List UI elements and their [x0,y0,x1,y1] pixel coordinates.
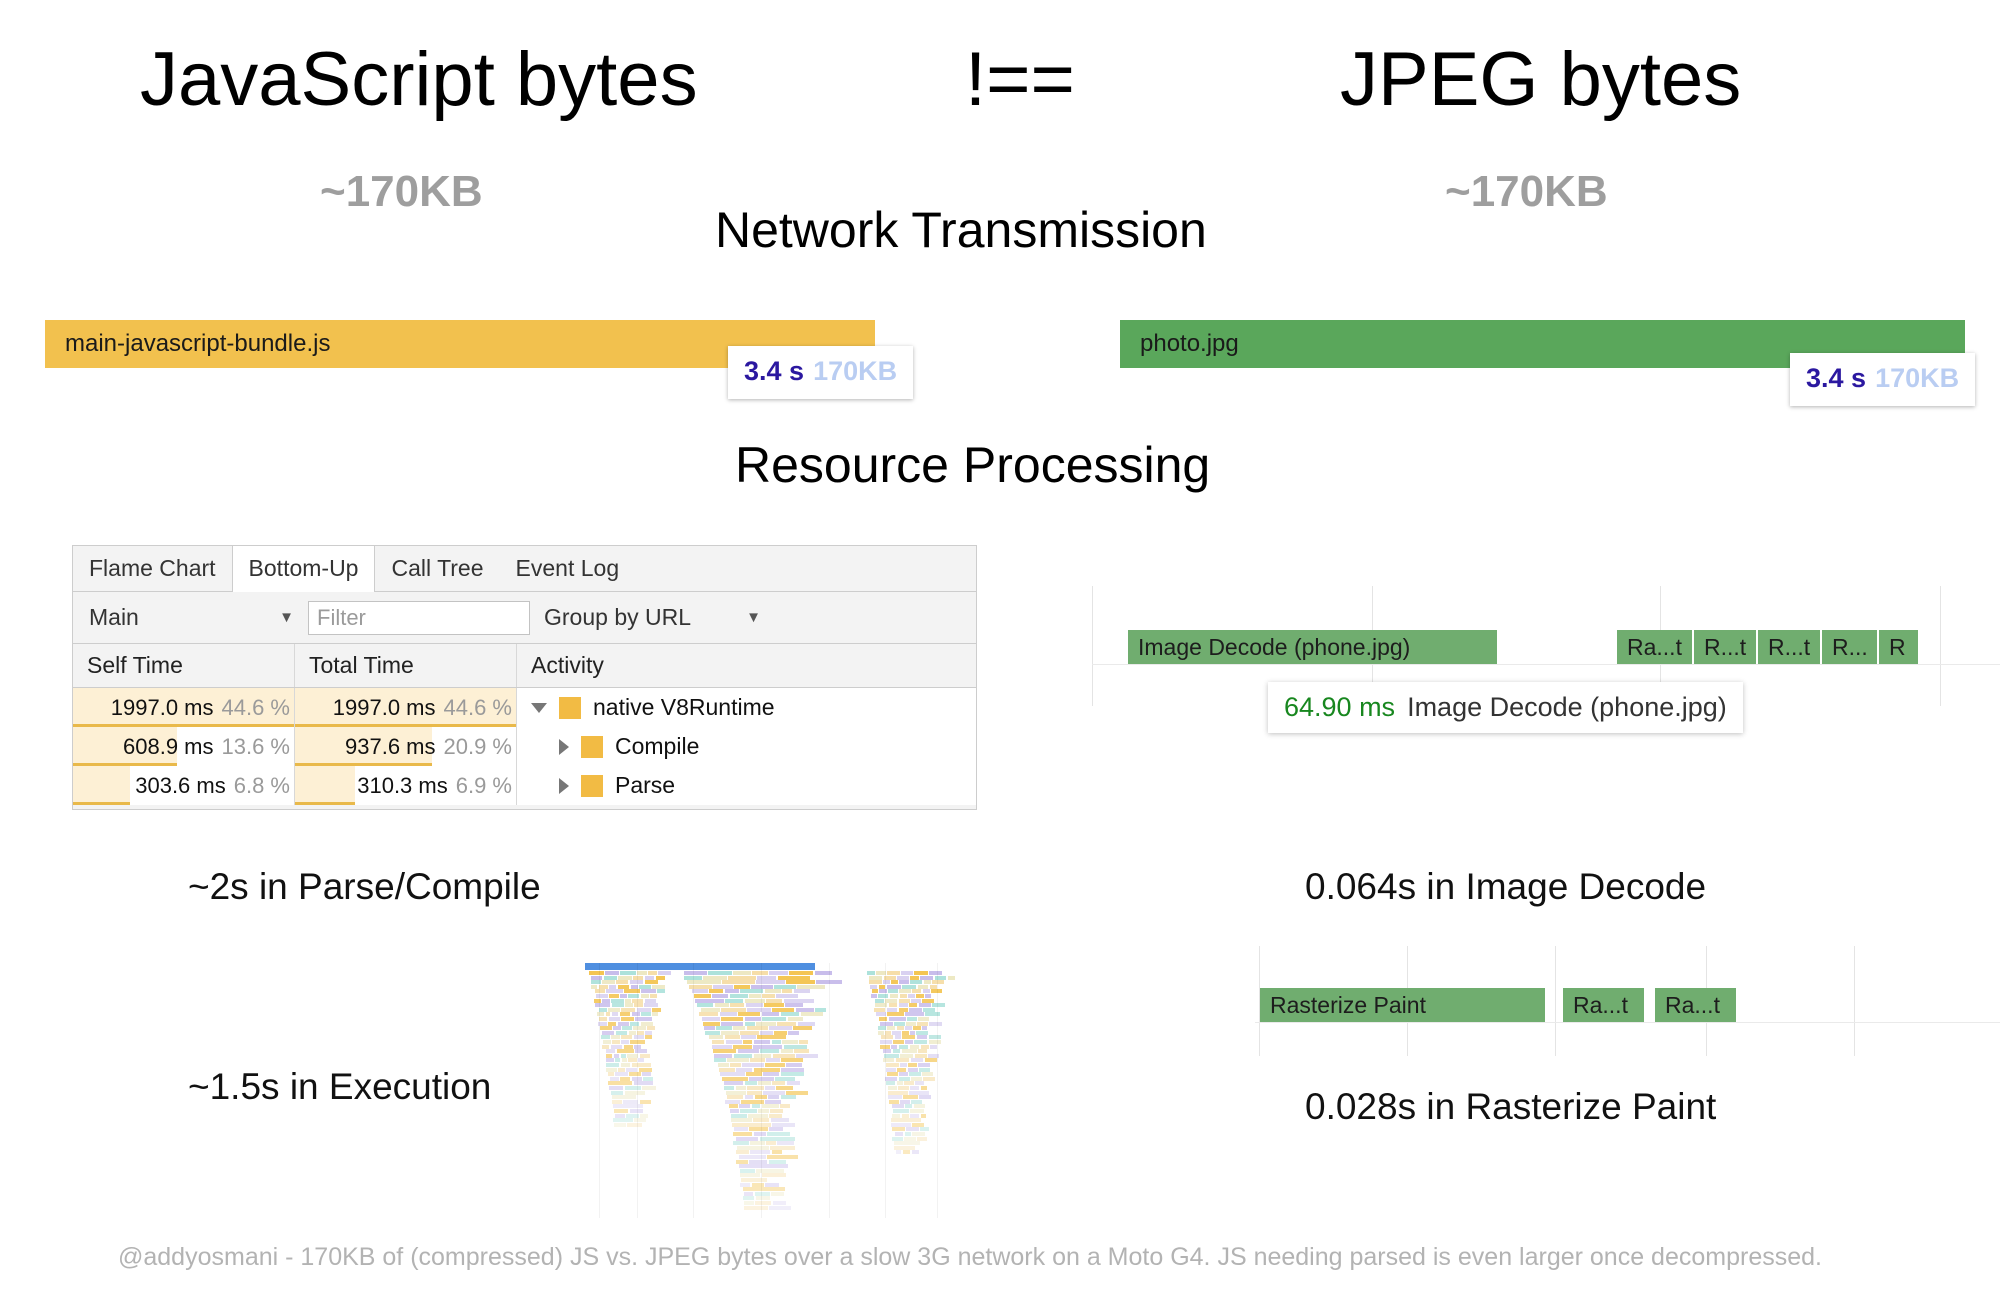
flame-chart-frame [798,1022,815,1026]
tab-event-log[interactable]: Event Log [500,546,636,591]
flame-chart-frame [766,1058,780,1062]
flame-chart-frame [612,1095,636,1099]
devtools-toolbar: Main ▼ Filter Group by URL ▼ [73,592,976,644]
flame-chart-frame [910,976,919,980]
total-time-value-cell: 310.3 ms6.9 % [295,766,517,805]
flame-chart-frame [911,1058,924,1062]
flame-chart-frame [784,1045,808,1049]
flame-chart-frame [883,980,890,984]
flame-chart-frame [774,1031,787,1035]
flame-chart-frame [625,1003,633,1007]
flame-chart-frame [739,1164,788,1168]
flame-chart-frame [733,1141,749,1145]
flame-chart-frame [622,1058,628,1062]
flame-chart-frame [620,1012,631,1016]
flame-chart-frame [737,1146,769,1150]
flame-chart-frame [899,1072,908,1076]
flame-chart-frame [910,1109,924,1113]
flame-chart-frame [650,994,657,998]
flame-chart-frame [767,1155,798,1159]
flame-chart-frame [606,1012,611,1016]
flame-chart-frame [712,994,728,998]
timeline-event-bar[interactable]: R...t [1758,630,1821,664]
timeline-event-bar[interactable]: R [1879,630,1919,664]
flame-chart-frame [632,1063,651,1067]
flame-chart-frame [709,1035,724,1039]
flame-chart-frame [887,1026,896,1030]
timeline-event-bar[interactable]: Ra...t [1655,988,1737,1022]
flame-chart-frame [906,1127,919,1131]
flame-chart-frame [602,999,609,1003]
flame-chart-frame [772,1081,785,1085]
flame-chart-frame [716,1026,732,1030]
flame-chart-frame [778,976,810,980]
flame-chart-frame [794,1049,809,1053]
flame-chart-frame [755,1192,770,1196]
flame-chart-frame [741,1178,766,1182]
flame-chart-frame [736,1137,758,1141]
flame-chart-frame [740,1183,750,1187]
flame-chart-gridline [829,963,830,1218]
flame-chart-frame [884,1054,899,1058]
flame-chart-frame [902,985,917,989]
flame-chart-frame [628,1058,637,1062]
flame-chart-frame [874,1008,886,1012]
flame-chart-frame [894,1141,921,1145]
flame-chart-frame [621,1063,631,1067]
flame-chart-frame [919,1095,931,1099]
tab-bottom-up[interactable]: Bottom-Up [232,546,376,592]
flame-chart-frame [904,1081,914,1085]
flame-chart-frame [770,1146,795,1150]
flame-chart-frame [740,1169,755,1173]
flame-chart-frame [648,971,656,975]
note-image-decode: 0.064s in Image Decode [1305,868,1706,905]
flame-chart-frame [891,1045,898,1049]
table-row[interactable]: 303.6 ms6.8 %310.3 ms6.9 %Parse [73,766,976,805]
flame-chart-frame [637,971,647,975]
flame-chart-frame [921,1114,926,1118]
flame-chart-frame [776,994,798,998]
flame-chart-frame [611,999,624,1003]
flame-chart-frame [772,1040,781,1044]
flame-chart-frame [914,1104,926,1108]
size-label-jpeg: ~170KB [1445,170,1608,214]
flame-chart-frame [889,1017,906,1021]
flame-chart-frame [612,1012,619,1016]
flame-chart-frame [916,1031,927,1035]
column-header-activity[interactable]: Activity [517,644,976,687]
flame-chart-frame [867,971,875,975]
flame-chart-frame [886,1063,899,1067]
timeline-event-label: Ra...t [1563,992,1628,1019]
flame-chart-frame [796,1054,817,1058]
flame-chart-frame [589,971,604,975]
flame-chart-frame [899,989,911,993]
flame-chart-header-bar [585,963,815,970]
flame-chart-frame [903,1095,918,1099]
flame-chart-frame [625,1086,641,1090]
table-row[interactable]: 608.9 ms13.6 %937.6 ms20.9 %Compile [73,727,976,766]
table-body: 1997.0 ms44.6 %1997.0 ms44.6 %native V8R… [73,688,976,805]
flame-chart-frame [749,994,761,998]
flame-chart-frame [721,1031,739,1035]
flame-chart-frame [895,1132,904,1136]
flame-chart-frame [658,971,671,975]
flame-chart-frame [910,980,922,984]
flame-chart-frame [652,1008,661,1012]
self-time-percent: 44.6 % [222,695,291,721]
flame-chart-frame [748,1114,767,1118]
flame-chart-frame [767,1132,790,1136]
flame-chart-frame [910,1114,919,1118]
flame-chart-frame [752,1104,761,1108]
flame-chart-frame [769,1206,791,1210]
column-header-total-time[interactable]: Total Time [295,644,517,687]
flame-chart-frame [641,989,655,993]
flame-chart-frame [657,989,665,993]
flame-chart-frame [788,1031,799,1035]
flame-chart-frame [713,985,733,989]
flame-chart-frame [606,1049,615,1053]
flame-chart-frame [892,1031,900,1035]
flame-chart-frame [777,1022,796,1026]
flame-chart-frame [905,1040,913,1044]
value-heatmap-fill [295,766,355,805]
flame-chart-frame [745,1081,757,1085]
flame-chart-frame [902,1031,909,1035]
flame-chart-frame [733,971,751,975]
flame-chart-frame [888,1095,902,1099]
flame-chart-frame [787,1081,800,1085]
scope-dropdown[interactable]: Main ▼ [73,604,308,631]
self-time-value: 1997.0 ms [111,695,214,721]
flame-chart-frame [900,994,908,998]
flame-chart-frame [781,1012,800,1016]
timeline-baseline [1255,1022,2000,1023]
activity-label: Parse [615,772,675,799]
flame-chart-frame [625,1091,645,1095]
flame-chart-frame [627,1123,642,1127]
flame-chart-frame [625,999,631,1003]
flame-chart-frame [921,1045,929,1049]
flame-chart-frame [769,971,788,975]
flame-chart-frame [881,1035,893,1039]
flame-chart-frame [888,1091,908,1095]
flame-chart-frame [714,1058,726,1062]
flame-chart-frame [724,1081,744,1085]
flame-chart-frame [878,994,888,998]
timeline-event-bar[interactable]: Ra...t [1617,630,1693,664]
chevron-down-icon: ▼ [746,609,761,626]
flame-chart-frame [912,1123,924,1127]
flame-chart-frame [738,1012,760,1016]
flame-chart-frame [645,976,655,980]
flame-chart-frame [905,1026,912,1030]
filter-placeholder: Filter [317,605,366,631]
flame-chart-frame [917,1137,927,1141]
flame-chart-frame [754,1054,772,1058]
flame-chart-frame [771,1192,785,1196]
flame-chart-frame [617,1049,634,1053]
flame-chart-frame [606,1068,617,1072]
flame-chart-frame [880,1022,893,1026]
flame-chart-frame [624,1045,633,1049]
flame-chart-frame [639,985,651,989]
column-header-self-time[interactable]: Self Time [73,644,295,687]
chevron-down-icon[interactable] [531,703,547,713]
flame-chart-frame [793,1026,812,1030]
network-size-jpeg: 170KB [1875,363,1959,394]
flame-chart-frame [630,1022,639,1026]
flame-chart-frame [703,976,727,980]
timeline-event-bar[interactable]: Rasterize Paint [1260,988,1546,1022]
tab-label: Event Log [516,555,620,582]
flame-chart-frame [765,989,781,993]
flame-chart-frame [606,1054,612,1058]
tab-call-tree[interactable]: Call Tree [375,546,499,591]
network-size-javascript: 170KB [813,356,897,387]
flame-chart-frame [910,1086,919,1090]
timeline-event-bar[interactable]: Ra...t [1563,988,1645,1022]
flame-chart-frame [734,1054,753,1058]
total-time-percent: 44.6 % [444,695,513,721]
flame-chart-frame [750,1141,765,1145]
flame-chart-frame [892,1127,905,1131]
flame-chart-gridline [599,963,600,1218]
flame-chart-frame [639,1068,652,1072]
flame-chart-frame [894,1146,915,1150]
flame-chart-frame [912,1150,919,1154]
flame-chart-frame [932,1003,945,1007]
flame-chart-frame [704,1026,715,1030]
flame-chart-frame [611,1045,623,1049]
flame-chart-frame [908,994,915,998]
flame-chart-frame [910,1031,915,1035]
flame-chart-frame [633,1026,646,1030]
flame-chart-frame [615,1058,620,1062]
flame-chart-frame [725,989,739,993]
flame-chart-frame [929,1022,943,1026]
flame-chart-frame [601,1035,610,1039]
flame-chart-frame [776,1086,793,1090]
flame-chart-frame [608,1008,620,1012]
flame-chart-frame [923,989,930,993]
timeline-event-label: Ra...t [1655,992,1720,1019]
flame-chart-gridline [885,963,886,1218]
flame-chart-frame [886,1068,896,1072]
timeline-gridline [1555,946,1556,1056]
flame-chart-frame [608,1072,615,1076]
flame-chart-frame [753,1045,783,1049]
flame-chart-frame [815,1008,826,1012]
flame-chart-frame [766,1141,776,1145]
flame-chart-gridline [761,963,762,1218]
total-time-value: 310.3 ms [357,773,448,799]
flame-chart-frame [781,1068,803,1072]
flame-chart-frame [887,1012,904,1016]
flame-chart-frame [788,1017,803,1021]
flame-chart-frame [736,1160,748,1164]
timeline-baseline [1092,664,2000,665]
flame-chart-frame [786,1091,808,1095]
flame-chart-frame [899,999,910,1003]
value-underline-bar [73,802,130,805]
flame-chart-frame [760,1049,779,1053]
flame-chart-frame [596,994,608,998]
flame-chart-frame [763,1072,779,1076]
flame-chart-frame [745,1022,755,1026]
flame-chart-frame [773,1201,786,1205]
flame-chart-frame [724,1086,734,1090]
flame-chart-frame [762,1017,787,1021]
flame-chart-frame [897,1026,904,1030]
flame-chart-frame [695,999,725,1003]
flame-chart-frame [893,1049,901,1053]
flame-chart-frame [765,1183,779,1187]
flame-chart-frame [770,1109,783,1113]
flame-chart-frame [919,1003,931,1007]
total-time-value: 937.6 ms [345,734,436,760]
flame-chart-frame [612,1100,623,1104]
grouping-dropdown-value: Group by URL [544,604,691,631]
flame-chart-frame [756,1196,771,1200]
grouping-dropdown[interactable]: Group by URL ▼ [530,604,775,631]
flame-chart-frame [902,1049,918,1053]
filter-input[interactable]: Filter [308,601,530,635]
flame-chart-frame [656,976,665,980]
flame-chart-frame [743,1187,785,1191]
flame-chart-frame [640,1100,651,1104]
flame-chart-frame [911,1077,922,1081]
flame-chart-frame [918,1017,929,1021]
flame-chart-frame [610,1077,619,1081]
flame-chart-frame [613,1104,643,1108]
flame-chart-frame [780,1104,790,1108]
flame-chart-frame [918,1063,930,1067]
flame-chart-frame [733,1026,746,1030]
flame-chart-frame [781,1049,793,1053]
flame-chart-frame [922,999,934,1003]
flame-chart-frame [887,985,901,989]
flame-chart-frame [608,1081,633,1085]
flame-chart-frame [916,994,924,998]
flame-chart-frame [756,1022,776,1026]
chevron-right-icon[interactable] [559,778,569,794]
flame-chart-frame [595,1003,611,1007]
table-row[interactable]: 1997.0 ms44.6 %1997.0 ms44.6 %native V8R… [73,688,976,727]
flame-chart-frame [615,1072,628,1076]
flame-chart-frame [591,985,597,989]
flame-chart-frame [895,1035,902,1039]
tab-label: Bottom-Up [249,555,359,582]
flame-chart-frame [740,1173,761,1177]
flame-chart-frame [902,1114,910,1118]
flame-chart-frame [734,1127,748,1131]
headline-jpeg: JPEG bytes [1340,42,1741,118]
flame-chart-frame [784,999,815,1003]
flame-chart-frame [774,985,796,989]
flame-chart-thumbnail [585,963,975,1218]
flame-chart-frame [796,1008,814,1012]
flame-chart-frame [923,1077,935,1081]
flame-chart-frame [887,1008,898,1012]
flame-chart-frame [632,1012,640,1016]
flame-chart-frame [899,1077,910,1081]
flame-chart-frame [887,971,900,975]
flame-chart-frame [745,1017,761,1021]
flame-chart-frame [925,1058,937,1062]
flame-chart-frame [614,1054,620,1058]
flame-chart-frame [921,1086,927,1090]
flame-chart-frame [725,999,743,1003]
flame-chart-frame [720,1012,737,1016]
timeline-event-bar[interactable]: R... [1822,630,1878,664]
flame-chart-frame [730,1109,739,1113]
flame-chart-frame [755,1201,771,1205]
flame-chart-frame [922,1026,927,1030]
flame-chart-frame [870,985,877,989]
flame-chart-frame [708,971,732,975]
flame-chart-frame [917,1035,928,1039]
total-time-percent: 20.9 % [444,734,513,760]
timeline-event-label: R [1879,634,1906,661]
timeline-event-bar[interactable]: R...t [1694,630,1757,664]
flame-chart-frame [769,1114,782,1118]
flame-chart-gridline [693,963,694,1218]
timeline-event-bar[interactable]: Image Decode (phone.jpg) [1128,630,1498,664]
flame-chart-frame [768,1095,779,1099]
flame-chart-frame [729,1104,737,1108]
flame-chart-frame [712,1040,724,1044]
self-time-percent: 13.6 % [222,734,291,760]
flame-chart-frame [591,976,602,980]
flame-chart-frame [896,1150,902,1154]
flame-chart-frame [914,1040,927,1044]
flame-chart-frame [888,1086,897,1090]
flame-chart-frame [889,1003,898,1007]
flame-chart-frame [720,1072,745,1076]
timeline-event-label: Image Decode (phone.jpg) [1128,634,1410,661]
flame-chart-frame [900,1054,914,1058]
flame-chart-frame [893,1040,904,1044]
tab-flame-chart[interactable]: Flame Chart [73,546,232,591]
flame-chart-frame [621,1040,629,1044]
flame-chart-frame [602,1031,614,1035]
flame-chart-frame [892,1137,903,1141]
timeline-gridline [1854,946,1855,1056]
flame-chart-frame [900,1063,907,1067]
chevron-right-icon[interactable] [559,739,569,755]
flame-chart-frame [799,1040,808,1044]
flame-chart-frame [878,1031,884,1035]
activity-label: native V8Runtime [593,694,775,721]
flame-chart-frame [605,971,619,975]
flame-chart-frame [616,1031,628,1035]
flame-chart-frame [769,1160,786,1164]
flame-chart-frame [897,1081,903,1085]
flame-chart-frame [599,1017,607,1021]
flame-chart-frame [721,1017,743,1021]
flame-chart-frame [918,1049,927,1053]
flame-chart-frame [892,1104,905,1108]
flame-chart-frame [887,1072,898,1076]
flame-chart-frame [891,1123,911,1127]
tooltip-name-image-decode: Image Decode (phone.jpg) [1407,692,1727,723]
flame-chart-frame [712,1045,732,1049]
flame-chart-frame [713,1049,737,1053]
flame-chart-frame [924,980,932,984]
